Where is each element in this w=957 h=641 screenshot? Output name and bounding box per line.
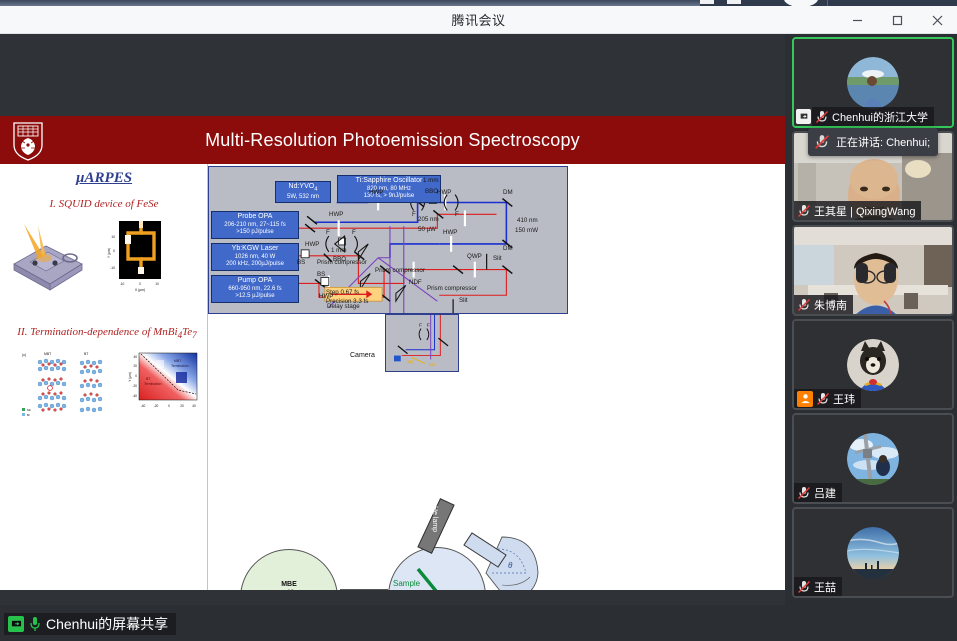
maximize-button[interactable] [877,6,917,34]
slide-body: µARPES I. SQUID device of FeSe [0,164,785,590]
shared-screen-region[interactable]: Multi-Resolution Photoemission Spectrosc… [0,34,785,605]
slide-left-column: µARPES I. SQUID device of FeSe [0,164,208,590]
label-qwp: QWP [467,253,482,260]
he-lamp-label: He lamp [431,506,438,532]
svg-text:(c): (c) [22,353,26,357]
meeting-window: 腾讯会议 [0,0,957,641]
participant-name-5: 王喆 [814,579,836,595]
minimize-button[interactable] [837,6,877,34]
svg-text:BT: BT [84,352,88,356]
meeting-body: Multi-Resolution Photoemission Spectrosc… [0,34,957,641]
label-beam-410-power: 150 mW [515,227,538,234]
label-1mm-2: 1 mm [331,247,346,254]
label-1mm-1: 1 mm [423,177,438,184]
label-hwp-4: HWP [443,229,457,236]
label-hwp-3: HWP [437,189,451,196]
squid-device-illustration [8,222,88,292]
participant-namebar-3: 王玮 [794,389,861,408]
svg-text:Y (µm): Y (µm) [107,248,111,258]
svg-text:Mn: Mn [27,408,31,412]
slide-title: Multi-Resolution Photoemission Spectrosc… [0,130,785,151]
svg-text:MBT: MBT [44,352,51,356]
svg-text:-10: -10 [120,282,125,286]
host-badge-icon [797,391,813,407]
label-prism-compressor-1: Prism compressor [375,267,425,274]
microphone-muted-icon [797,298,811,312]
label-f-3: F [326,229,330,236]
participant-tile-0[interactable]: Chenhui的浙江大学 [792,37,954,128]
screen-share-icon [8,616,24,632]
svg-text:Termination: Termination [144,382,162,386]
participant-name-2: 朱博南 [814,297,847,313]
svg-text:X (µm): X (µm) [135,288,145,292]
termination-phase-diagram: MBT Termination BT Termination 40 20 0 -… [126,350,204,414]
participant-namebar-0: Chenhui的浙江大学 [812,107,934,126]
svg-text:0: 0 [135,374,137,378]
presentation-slide: Multi-Resolution Photoemission Spectrosc… [0,116,785,590]
window-titlebar: 腾讯会议 [0,6,957,34]
svg-text:20: 20 [133,364,137,368]
label-bs-1: BS [297,259,305,266]
section-1-title: I. SQUID device of FeSe [0,198,208,210]
participant-namebar-1: 王其星 | QixingWang [794,201,921,220]
participants-sidebar[interactable]: Chenhui的浙江大学 [789,34,957,641]
svg-text:F: F [427,323,430,329]
label-beam-205-power: 50 µW [418,226,436,233]
svg-text:-10: -10 [110,266,115,270]
camera-optics-panel: F F M1 M2 [385,314,459,372]
laser-box-nd-yvo4: Nd:YVO4 5W, 532 nm [275,181,331,203]
participant-tile-3[interactable]: 王玮 [792,319,954,410]
close-button[interactable] [917,6,957,34]
svg-text:0: 0 [139,282,141,286]
svg-text:M1: M1 [408,359,415,365]
label-bbo-1: BBO [425,188,438,195]
analyzer-angle-label: θ [508,561,512,570]
label-slit-1: Slit [493,255,502,262]
university-crest-icon [12,121,44,161]
label-beam-410nm: 410 nm [517,217,538,224]
svg-text:-40: -40 [141,404,146,408]
svg-text:Y (µm): Y (µm) [128,372,132,382]
participant-name-4: 吕建 [814,485,836,501]
participant-namebar-5: 王喆 [794,577,842,596]
label-f-4: F [352,229,356,236]
svg-text:M2: M2 [429,362,436,368]
participant-name-3: 王玮 [833,391,855,407]
label-dm-1: DM [503,189,513,196]
label-delay-step-fs: Step 0.67 fs [326,289,359,296]
sample-label: Sample [393,579,420,588]
participant-tile-5[interactable]: 王喆 [792,507,954,598]
speaking-tooltip-text: 正在讲话: Chenhui; [836,134,930,150]
participant-tile-4[interactable]: 吕建 [792,413,954,504]
sharing-badge-0 [796,109,811,124]
svg-text:BT: BT [146,377,150,381]
svg-text:F: F [419,323,422,329]
svg-text:0: 0 [113,249,115,253]
laser-box-probe-opa: Probe OPA 206-210 nm, 27~115 fs >150 pJ/… [211,211,299,239]
label-camera: Camera [350,352,375,359]
screen-share-label: Chenhui的屏幕共享 [46,614,168,634]
svg-text:10: 10 [155,282,159,286]
microphone-muted-icon [797,486,811,500]
label-beam-205nm: 205 nm [418,216,439,223]
microphone-on-icon [28,616,42,632]
window-controls [837,6,957,34]
label-prism-compressor-2: Prism compressor [427,285,477,292]
electron-analyzer [458,527,544,590]
svg-text:Termination: Termination [171,364,189,368]
laser-box-yb-kgw: Yb:KGW Laser 1026 nm, 40 W 200 kHz, 200µ… [211,243,299,271]
participant-namebar-2: 朱博南 [794,295,853,314]
avatar [847,433,899,485]
avatar [847,527,899,579]
participant-name-0: Chenhui的浙江大学 [832,109,928,125]
microphone-muted-icon [816,392,830,406]
label-hwp-1: HWP [329,211,343,218]
label-hwp-6: HWP [305,241,319,248]
svg-text:40: 40 [192,404,196,408]
label-bs-2: BS [317,271,325,278]
microphone-muted-icon [815,110,829,124]
mbe-label: MBE [281,581,297,588]
section-2-title: II. Termination-dependence of MnBi4Te7 [4,326,210,340]
svg-text:10: 10 [111,235,115,239]
label-dm-2: DM [503,245,513,252]
laser-box-pump-opa: Pump OPA 660-950 nm, 22.6 fs >12.5 µJ/pu… [211,275,299,303]
label-f-1: F [412,211,416,218]
participant-tile-2[interactable]: 朱博南 [792,225,954,316]
microphone-muted-icon [797,580,811,594]
label-hwp-2: HWP [369,189,383,196]
avatar [847,57,899,109]
background-tab-1 [700,0,714,4]
label-f-2: F [455,211,459,218]
avatar [847,339,899,391]
speaking-tooltip: 正在讲话: Chenhui; [808,128,938,156]
label-delay-precision: Precision 3.3 fs [326,298,368,305]
svg-text:-40: -40 [132,394,137,398]
label-slit-2: Slit [459,297,468,304]
mbe-chamber: MBE <3x10-10 mbar 300 K<T<1173 K [240,549,338,590]
optical-setup-diagram: Nd:YVO4 5W, 532 nm Ti:Sapphire Oscillato… [208,166,568,314]
participant-name-1: 王其星 | QixingWang [814,203,915,219]
screen-share-status-bar: Chenhui的屏幕共享 [0,605,785,641]
crystal-structure-figure: (c) MBT BT [18,350,118,418]
background-tab-2 [727,0,741,4]
window-title: 腾讯会议 [451,10,505,29]
svg-text:40: 40 [133,355,137,359]
screen-share-indicator[interactable]: Chenhui的屏幕共享 [4,613,176,635]
svg-text:-20: -20 [132,384,137,388]
microphone-muted-icon [814,134,830,150]
slide-header: Multi-Resolution Photoemission Spectrosc… [0,116,785,164]
svg-text:20: 20 [180,404,184,408]
label-ndf: NDF [409,279,422,286]
uarpes-heading: µARPES [0,170,208,187]
svg-text:MBT: MBT [174,359,181,363]
participant-namebar-4: 吕建 [794,483,842,502]
label-prism-compressor-3: Prism compressor [317,260,357,267]
svg-text:-20: -20 [154,404,159,408]
svg-text:Bi: Bi [27,413,30,417]
microphone-muted-icon [797,204,811,218]
squid-scan-figure: 10 0 -10 Y (µm) -10 0 10 X (µm) [104,219,166,303]
svg-text:0: 0 [168,404,170,408]
